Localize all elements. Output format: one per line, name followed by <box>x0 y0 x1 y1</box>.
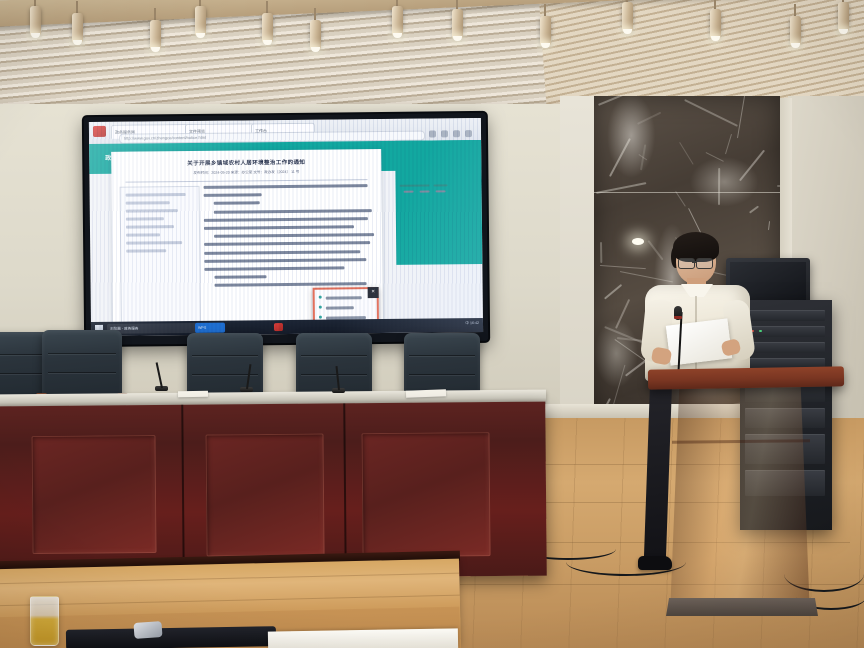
glasses-left-lens <box>678 258 695 269</box>
marble-vein <box>725 134 732 154</box>
document-body <box>204 184 373 292</box>
microphone-indicator <box>674 316 682 319</box>
marble-vein <box>598 96 649 105</box>
messaging-app-icon[interactable] <box>274 323 283 331</box>
marble-vein <box>739 150 765 181</box>
foreground-papers <box>268 628 458 648</box>
lectern-base <box>666 598 818 616</box>
lectern-top <box>648 366 844 389</box>
track-light-icon <box>452 9 463 39</box>
track-light-icon <box>262 13 273 43</box>
marble-vein <box>619 271 673 283</box>
wall-sconce-light <box>632 238 644 245</box>
table-papers-1 <box>406 389 446 397</box>
marble-vein <box>601 242 603 263</box>
marble-vein <box>615 299 630 329</box>
track-light-icon <box>195 6 206 36</box>
document-meta: 发布时间：2024-05-20 来源：办公室 文号：政办发〔2024〕 11 号 <box>121 169 371 177</box>
track-light-icon <box>310 20 321 50</box>
track-light-icon <box>540 16 551 46</box>
marble-vein <box>737 96 746 139</box>
speaker-left-hand <box>651 346 672 365</box>
marble-vein <box>600 265 646 269</box>
marble-vein <box>648 240 664 260</box>
foreground-metal-object <box>133 621 162 639</box>
track-light-icon <box>392 6 403 36</box>
site-side-band <box>395 140 482 265</box>
marble-vein <box>604 284 622 300</box>
track-light-icon <box>710 9 721 39</box>
track-light-icon <box>30 6 41 36</box>
marble-vein <box>679 142 693 164</box>
close-icon[interactable]: × <box>368 287 379 298</box>
conference-room-photo: 政务服务网 文件预览 工作台 http://www.gov.cn/zhengce… <box>0 0 864 648</box>
marble-vein <box>768 221 770 230</box>
executive-chair-2[interactable] <box>42 330 122 398</box>
lectern-shading <box>666 386 814 604</box>
conference-table-front <box>0 402 547 581</box>
document-title: 关于开展乡镇域农村人居环境整治工作的通知 <box>121 157 371 168</box>
tea-glass <box>30 596 59 646</box>
table-papers-2 <box>178 391 208 398</box>
track-light-icon <box>72 13 83 43</box>
track-light-icon <box>150 20 161 50</box>
browser-logo-icon <box>93 126 106 137</box>
system-tray[interactable]: 中 16:42 <box>465 321 479 326</box>
marble-vein <box>612 365 626 408</box>
extension-icon[interactable] <box>429 130 436 137</box>
document-outline-pane[interactable] <box>120 186 201 327</box>
profile-icon[interactable] <box>453 130 460 137</box>
glasses-bridge <box>692 261 697 263</box>
marble-vein <box>777 185 780 187</box>
title-divider <box>125 179 367 183</box>
marble-vein <box>749 205 759 213</box>
marble-vein <box>675 191 686 207</box>
presentation-display[interactable]: 政务服务网 文件预览 工作台 http://www.gov.cn/zhengce… <box>84 113 488 345</box>
track-light-icon <box>790 16 801 46</box>
track-light-icon <box>622 2 633 32</box>
track-light-icon <box>838 2 849 32</box>
foreground-object <box>66 626 276 648</box>
menu-icon[interactable] <box>465 130 472 137</box>
marble-vein <box>637 112 661 125</box>
taskbar-item-wps[interactable]: WPS <box>195 323 225 333</box>
marble-vein <box>718 168 720 205</box>
display-screen[interactable]: 政务服务网 文件预览 工作台 http://www.gov.cn/zhengce… <box>89 118 483 336</box>
speaker-shoe <box>638 556 672 570</box>
glasses-right-lens <box>696 258 713 269</box>
marble-vein <box>705 152 724 162</box>
marble-vein <box>684 99 738 127</box>
side-widget <box>400 184 462 201</box>
marble-vein <box>609 138 631 177</box>
bookmark-icon[interactable] <box>441 130 448 137</box>
